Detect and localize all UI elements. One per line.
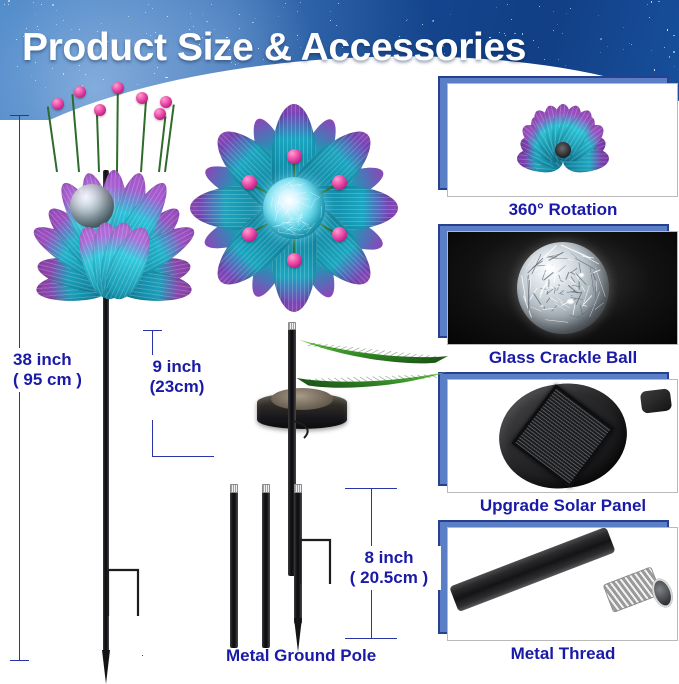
page-title: Product Size & Accessories [22,26,526,70]
decorative-berry [242,175,257,190]
ground-pole-cap-3 [294,484,302,493]
berry-stem [47,107,58,173]
decorative-berry [287,253,302,268]
decorative-berry [332,227,347,242]
ground-pole-foot-bracket [290,538,338,596]
panel-image-solar [447,379,678,493]
decorative-berry [287,149,302,164]
decorative-berry [242,227,257,242]
caption-ground-pole: Metal Ground Pole [226,646,376,666]
dimension-label-stake: 8 inch ( 20.5cm ) [337,546,441,590]
decorative-berry [136,92,148,104]
decorative-berry [52,98,64,110]
solar-hinge-tab [640,388,672,413]
dimension-line-leaf-lower [152,420,153,456]
berry-stem [116,90,118,172]
berry-stem [140,100,147,172]
dimension-value-inch: 38 inch [13,350,82,370]
decorative-berry [154,108,166,120]
dimension-spacer [142,655,143,656]
center-crackle-ball [70,184,114,228]
solar-cell-grid [511,384,615,488]
dimension-label-leaf-span: 9 inch (23cm) [127,355,227,399]
lotus-flower-icon [473,96,653,192]
dimension-value-metric: (23cm) [127,377,227,397]
dimension-cap-stake-bottom [345,638,397,639]
solar-panel-icon [493,379,633,493]
ball-highlight [579,273,584,277]
ground-pole-segment-2 [262,490,270,648]
power-cable [292,420,318,442]
stake-foot-bracket [98,568,146,628]
stake-tip [102,650,110,684]
dimension-label-total-height: 38 inch ( 95 cm ) [10,348,85,392]
dimension-cap-stake-top [345,488,397,489]
crackle-veins [517,242,609,334]
panel-label-rotation: 360° Rotation [438,200,679,220]
ball-highlight [544,264,554,271]
dimension-cap-top [10,115,29,116]
decorative-berry [160,96,172,108]
solar-base-top [271,388,333,410]
panel-label-thread: Metal Thread [438,644,679,664]
dimension-cap-leaf-bottom [152,456,214,457]
dimension-value-metric: ( 95 cm ) [13,370,82,390]
center-pole-thread-cap [288,322,296,330]
dimension-value-inch: 8 inch [337,548,441,568]
ball-highlight [567,299,574,304]
berry-stem [96,112,100,172]
dimension-value-inch: 9 inch [127,357,227,377]
panel-image-thread [447,527,678,641]
panel-label-solar: Upgrade Solar Panel [438,496,679,516]
decorative-berry [74,86,86,98]
dimension-cap-bottom [10,660,29,661]
panel-image-crackle-ball [447,231,678,345]
panel-image-rotation [447,83,678,197]
ground-pole-cap-2 [262,484,270,493]
lotus-flower-top-view [186,96,402,326]
dimension-value-metric: ( 20.5cm ) [337,568,441,588]
glass-crackle-ball-icon [517,242,609,334]
black-pole-shaft [449,527,616,612]
decorative-berry [94,104,106,116]
decorative-berry [112,82,124,94]
berry-stem [71,94,79,172]
panel-label-crackle-ball: Glass Crackle Ball [438,348,679,368]
ground-pole-cap-1 [230,484,238,493]
crackle-veins [263,177,325,239]
decorative-berry [332,175,347,190]
flower-center [555,142,571,158]
dimension-cap-leaf-top [143,330,162,331]
ground-pole-segment-1 [230,490,238,648]
